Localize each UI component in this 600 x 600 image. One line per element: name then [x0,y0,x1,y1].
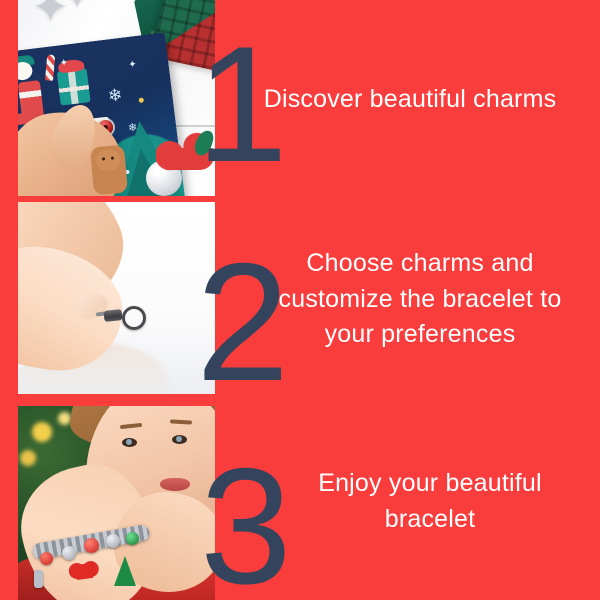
jump-ring [122,306,146,330]
step-3-line-2: bracelet [270,502,590,538]
candy-cane-graphic [45,54,55,81]
green-bead [126,532,139,545]
step-2-image-panel [18,202,215,394]
silver-bead [106,534,120,548]
dangling-charm [34,570,43,588]
step-2-text: Choose charms and customize the bracelet… [250,246,590,353]
step-1-image-panel: ✦ ✦ ❄ ❄ ❄ ✦ ✦ [18,0,215,196]
red-bead [84,538,99,553]
snow-dot [139,97,145,103]
step-2-line-1: Choose charms and [250,246,590,282]
step-number-2: 2 [196,238,287,406]
red-bead [40,552,53,565]
step-2-line-3: your preferences [250,317,590,353]
bokeh-light [20,450,36,466]
tree-charm [114,556,136,586]
bokeh-light [32,422,52,442]
clasp-closeup-scene [18,202,215,394]
step-number-3: 3 [200,444,290,600]
step-3-text: Enjoy your beautiful bracelet [270,466,590,537]
star-speck-icon: ✦ [128,60,138,71]
step-number-1: 1 [196,22,286,187]
instruction-poster: ✦ ✦ ❄ ❄ ❄ ✦ ✦ [0,0,600,600]
gift-graphic [57,68,91,105]
snowflake-icon: ❄ [107,86,123,105]
lips [160,478,190,491]
step-2-line-2: customize the bracelet to [250,282,590,318]
step-3-line-1: Enjoy your beautiful [270,466,590,502]
heart-charm [75,563,93,580]
eye [172,435,187,444]
bracelet-clasp [103,309,122,322]
silver-star-decoration-icon: ✦ [62,0,92,14]
silver-bead [62,546,76,560]
advent-calendar-scene: ✦ ✦ ❄ ❄ ❄ ✦ ✦ [18,0,215,196]
step-3-image-panel [18,406,215,600]
snowflake-icon: ❄ [128,123,138,135]
eye [122,438,137,447]
gingerbread-man [90,145,128,196]
girl-with-bracelet-scene [18,406,215,600]
star-speck-icon: ✦ [59,58,69,69]
